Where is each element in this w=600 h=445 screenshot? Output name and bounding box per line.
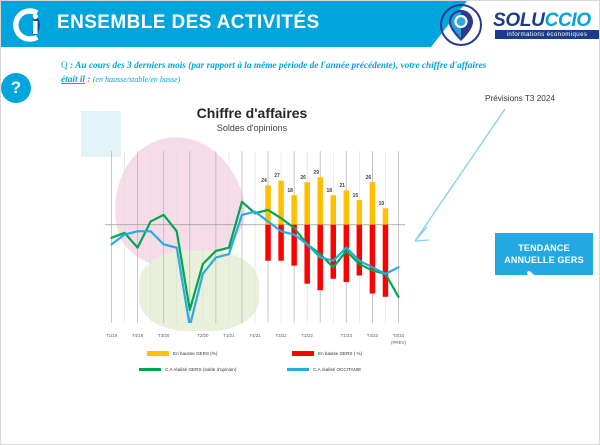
x-axis-tick-label: T1/23 bbox=[341, 333, 352, 338]
bar-value-label: 21 bbox=[340, 183, 346, 189]
x-axis-tick-label: T3/20 bbox=[158, 333, 169, 338]
question-prefix: Q bbox=[61, 61, 68, 71]
tendance-button-line-2: ANNUELLE GERS bbox=[504, 254, 584, 266]
bar-value-label: 26 bbox=[300, 175, 306, 181]
bar-value-label: 10 bbox=[379, 201, 385, 207]
x-axis-tick-label: T2/20 bbox=[197, 333, 208, 338]
legend-label: En baisse GERS ( %) bbox=[318, 351, 362, 356]
legend-swatch bbox=[139, 368, 161, 371]
legend-item[interactable]: En hausse GERS (%) bbox=[147, 351, 217, 356]
legend-swatch bbox=[287, 368, 309, 371]
brand-wordmark-part-b: CCIO bbox=[545, 10, 591, 31]
question-mark-badge: ? bbox=[1, 73, 31, 103]
brand-tagline: informations économiques bbox=[495, 30, 599, 39]
legend-label: C.A réalisé GERS (solde d'opinion) bbox=[165, 367, 236, 372]
legend-label: En hausse GERS (%) bbox=[173, 351, 217, 356]
chart-card: Chiffre d'affaires Soldes d'opinions T1/… bbox=[87, 101, 417, 386]
x-axis-tick-label: T3/24 bbox=[393, 333, 404, 338]
page-header: ENSEMBLE DES ACTIVITÉS SOLUCCIO informat… bbox=[1, 1, 600, 47]
bar-value-label: 27 bbox=[274, 173, 280, 179]
chart-plot-area bbox=[105, 151, 405, 323]
chart-svg bbox=[105, 151, 405, 323]
x-axis-tick-label: T1/19 bbox=[106, 333, 117, 338]
ci-logo-icon bbox=[7, 7, 47, 43]
bar-value-label: 18 bbox=[287, 188, 293, 194]
chart-title: Chiffre d'affaires bbox=[87, 105, 417, 121]
legend-item[interactable]: En baisse GERS ( %) bbox=[292, 351, 362, 356]
question-line-2-rest: : bbox=[85, 75, 93, 85]
question-line-1: : Au cours des 3 derniers mois (par rapp… bbox=[68, 61, 487, 71]
question-line-2-underlined: était il bbox=[61, 75, 85, 85]
legend-item[interactable]: C.A réalisé OCCITANIE bbox=[287, 367, 361, 372]
x-axis-tick-label: T1/21 bbox=[223, 333, 234, 338]
bar-value-label: 18 bbox=[326, 188, 332, 194]
page-title: ENSEMBLE DES ACTIVITÉS bbox=[57, 12, 320, 34]
tendance-button-line-1: TENDANCE bbox=[518, 242, 570, 254]
chart-x-axis-labels: T1/19T4/19T3/20T2/20T1/21T4/21T3/22T2/22… bbox=[105, 329, 405, 351]
chart-subtitle: Soldes d'opinions bbox=[87, 123, 417, 133]
x-axis-tick-label: T4/21 bbox=[249, 333, 260, 338]
question-text: Q : Au cours des 3 derniers mois (par ra… bbox=[61, 59, 591, 87]
bar-value-label: 15 bbox=[353, 193, 359, 199]
bar-value-label: 26 bbox=[366, 175, 372, 181]
down-right-arrow-icon bbox=[525, 269, 565, 303]
bar-value-label: 29 bbox=[313, 170, 319, 176]
legend-swatch bbox=[147, 351, 169, 356]
x-axis-tick-label: T4/23 bbox=[367, 333, 378, 338]
brand-wordmark-part-a: SOLU bbox=[493, 10, 545, 31]
legend-item[interactable]: C.A réalisé GERS (solde d'opinion) bbox=[139, 367, 236, 372]
x-axis-tick-label: T2/22 bbox=[302, 333, 313, 338]
bar-value-label: 24 bbox=[261, 178, 267, 184]
chart-legend: En hausse GERS (%)En baisse GERS ( %)C.A… bbox=[117, 351, 417, 385]
x-axis-tick-label: T4/19 bbox=[132, 333, 143, 338]
legend-swatch bbox=[292, 351, 314, 356]
x-axis-prev-note: (PREV) bbox=[391, 340, 406, 345]
callout-arrow-icon bbox=[401, 101, 511, 246]
slide-page: ENSEMBLE DES ACTIVITÉS SOLUCCIO informat… bbox=[0, 0, 600, 445]
question-hint: (en hausse/stable/en basse) bbox=[93, 75, 181, 84]
location-pin-logo-icon bbox=[439, 3, 483, 47]
brand-wordmark: SOLUCCIO bbox=[493, 10, 591, 32]
legend-label: C.A réalisé OCCITANIE bbox=[313, 367, 361, 372]
x-axis-tick-label: T3/22 bbox=[275, 333, 286, 338]
